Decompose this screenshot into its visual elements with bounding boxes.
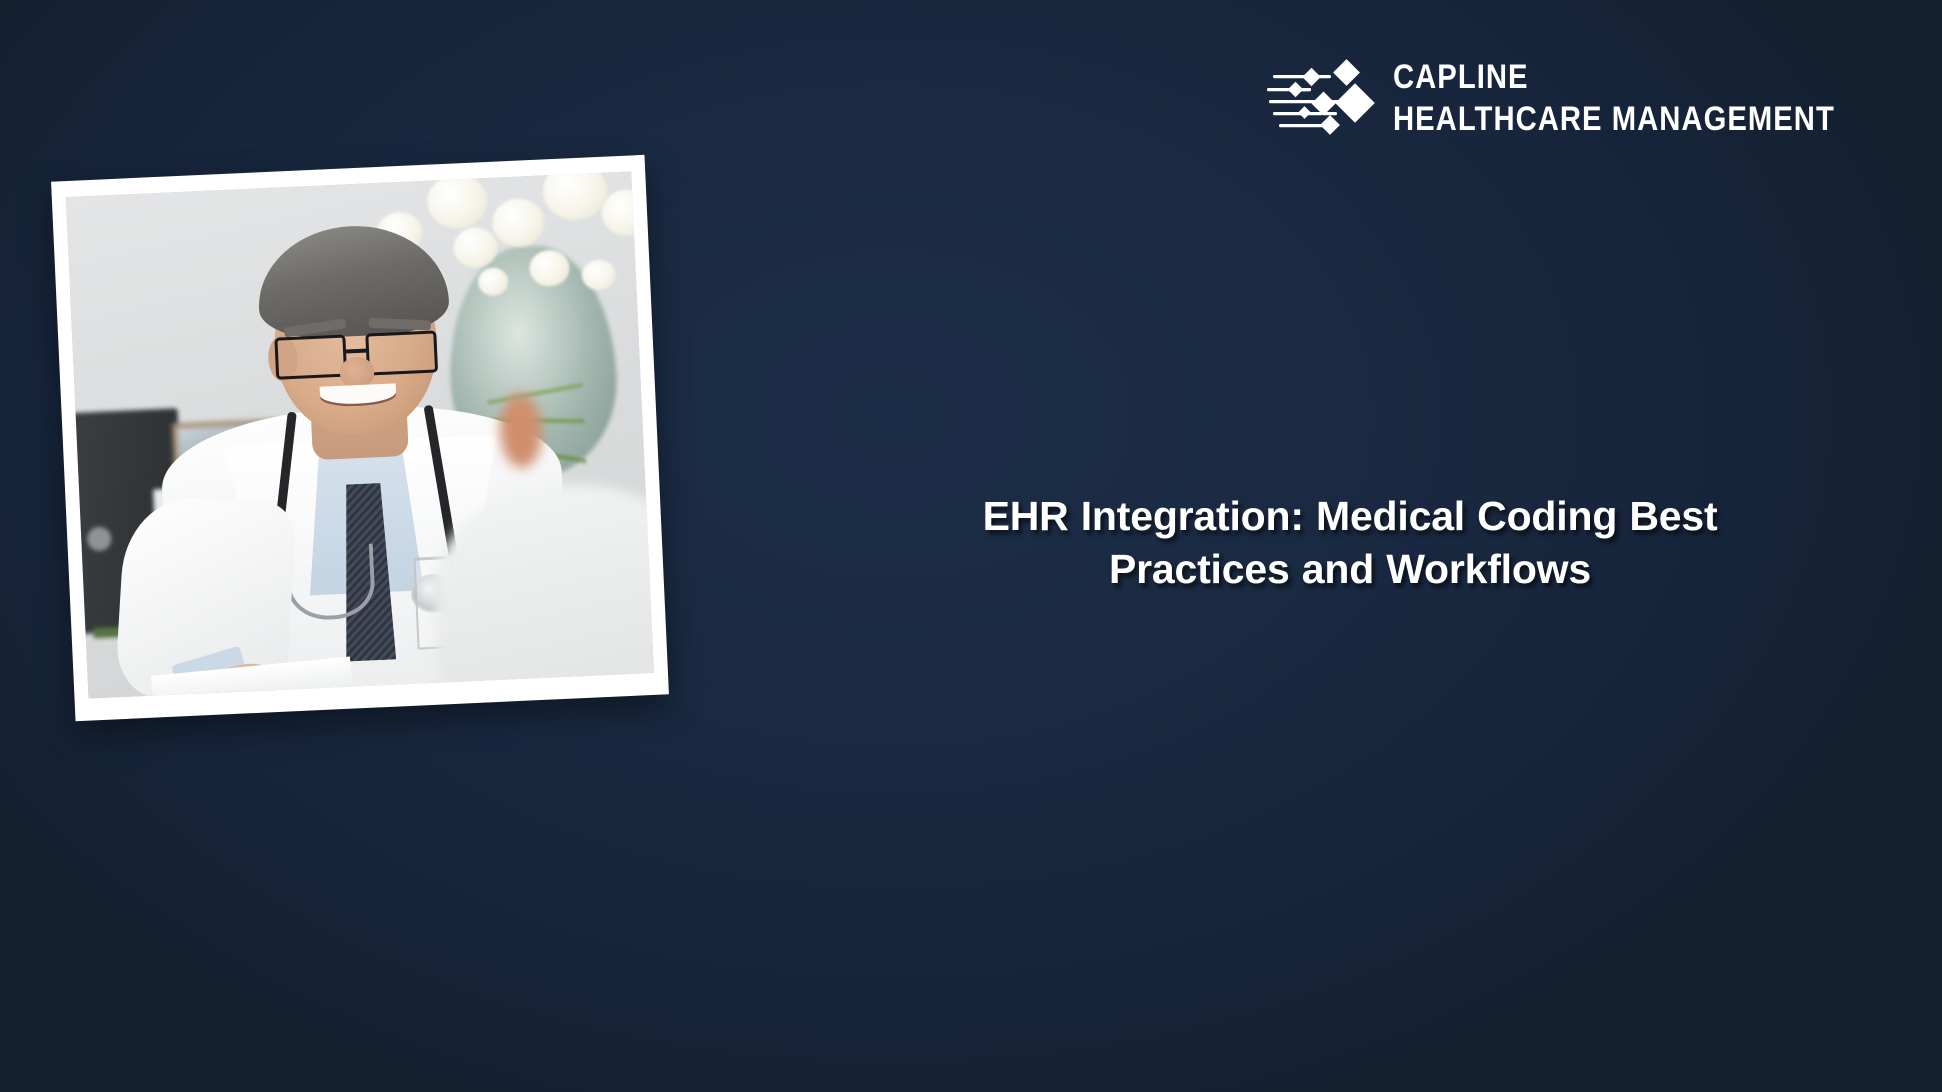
patient-head [467,268,654,498]
lens-left [275,334,348,379]
stethoscope-loop [285,543,376,621]
page-title: EHR Integration: Medical Coding Best Pra… [940,490,1760,597]
glasses-bridge [346,349,366,353]
patient-foreground [408,230,654,699]
logo-line-capline: CAPLINE [1393,60,1835,94]
blog-hero-banner: CAPLINE HEALTHCARE MANAGEMENT [0,0,1942,1092]
headline-block: EHR Integration: Medical Coding Best Pra… [940,490,1760,597]
hero-photo [66,171,654,698]
capline-diamond-lines-mark [1267,55,1379,141]
doctor-patient-scene [66,171,654,698]
patient-shoulder [429,478,653,698]
hero-photo-card [51,155,669,721]
nose [340,356,375,387]
capline-logo[interactable]: CAPLINE HEALTHCARE MANAGEMENT [1267,55,1907,141]
logo-line-healthcare: HEALTHCARE MANAGEMENT [1393,102,1835,136]
logo-wordmark: CAPLINE HEALTHCARE MANAGEMENT [1393,60,1907,136]
